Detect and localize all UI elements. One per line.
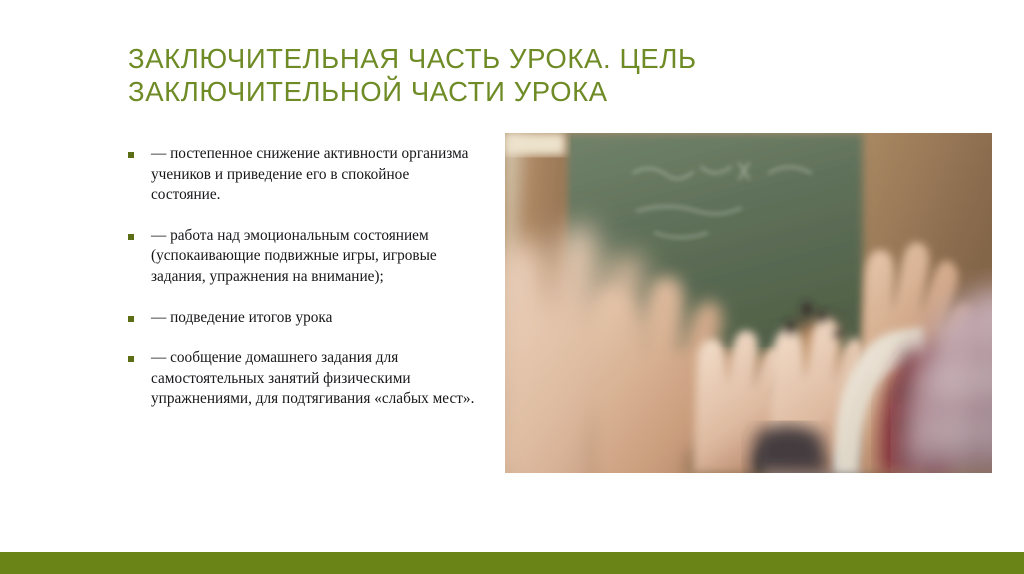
bottom-accent-bar	[0, 552, 1024, 574]
list-item: — работа над эмоциональным состоянием (у…	[128, 226, 480, 288]
list-item-text: — сообщение домашнего задания для самост…	[151, 348, 480, 410]
square-bullet-icon	[128, 316, 134, 322]
list-item: — подведение итогов урока	[128, 308, 480, 329]
classroom-photo-artwork	[505, 133, 992, 473]
classroom-photo	[505, 133, 992, 473]
list-item-text: — постепенное снижение активности органи…	[151, 144, 480, 206]
slide-canvas: ЗАКЛЮЧИТЕЛЬНАЯ ЧАСТЬ УРОКА. ЦЕЛЬ ЗАКЛЮЧИ…	[0, 0, 1024, 574]
title-line-1: ЗАКЛЮЧИТЕЛЬНАЯ ЧАСТЬ УРОКА. ЦЕЛЬ	[128, 42, 888, 75]
list-item: — сообщение домашнего задания для самост…	[128, 348, 480, 410]
title-line-2: ЗАКЛЮЧИТЕЛЬНОЙ ЧАСТИ УРОКА	[128, 75, 888, 108]
square-bullet-icon	[128, 152, 134, 158]
square-bullet-icon	[128, 356, 134, 362]
list-item-text: — подведение итогов урока	[151, 308, 480, 329]
list-item-text: — работа над эмоциональным состоянием (у…	[151, 226, 480, 288]
square-bullet-icon	[128, 234, 134, 240]
bullet-list: — постепенное снижение активности органи…	[128, 144, 480, 410]
list-item: — постепенное снижение активности органи…	[128, 144, 480, 206]
page-title: ЗАКЛЮЧИТЕЛЬНАЯ ЧАСТЬ УРОКА. ЦЕЛЬ ЗАКЛЮЧИ…	[128, 42, 888, 108]
